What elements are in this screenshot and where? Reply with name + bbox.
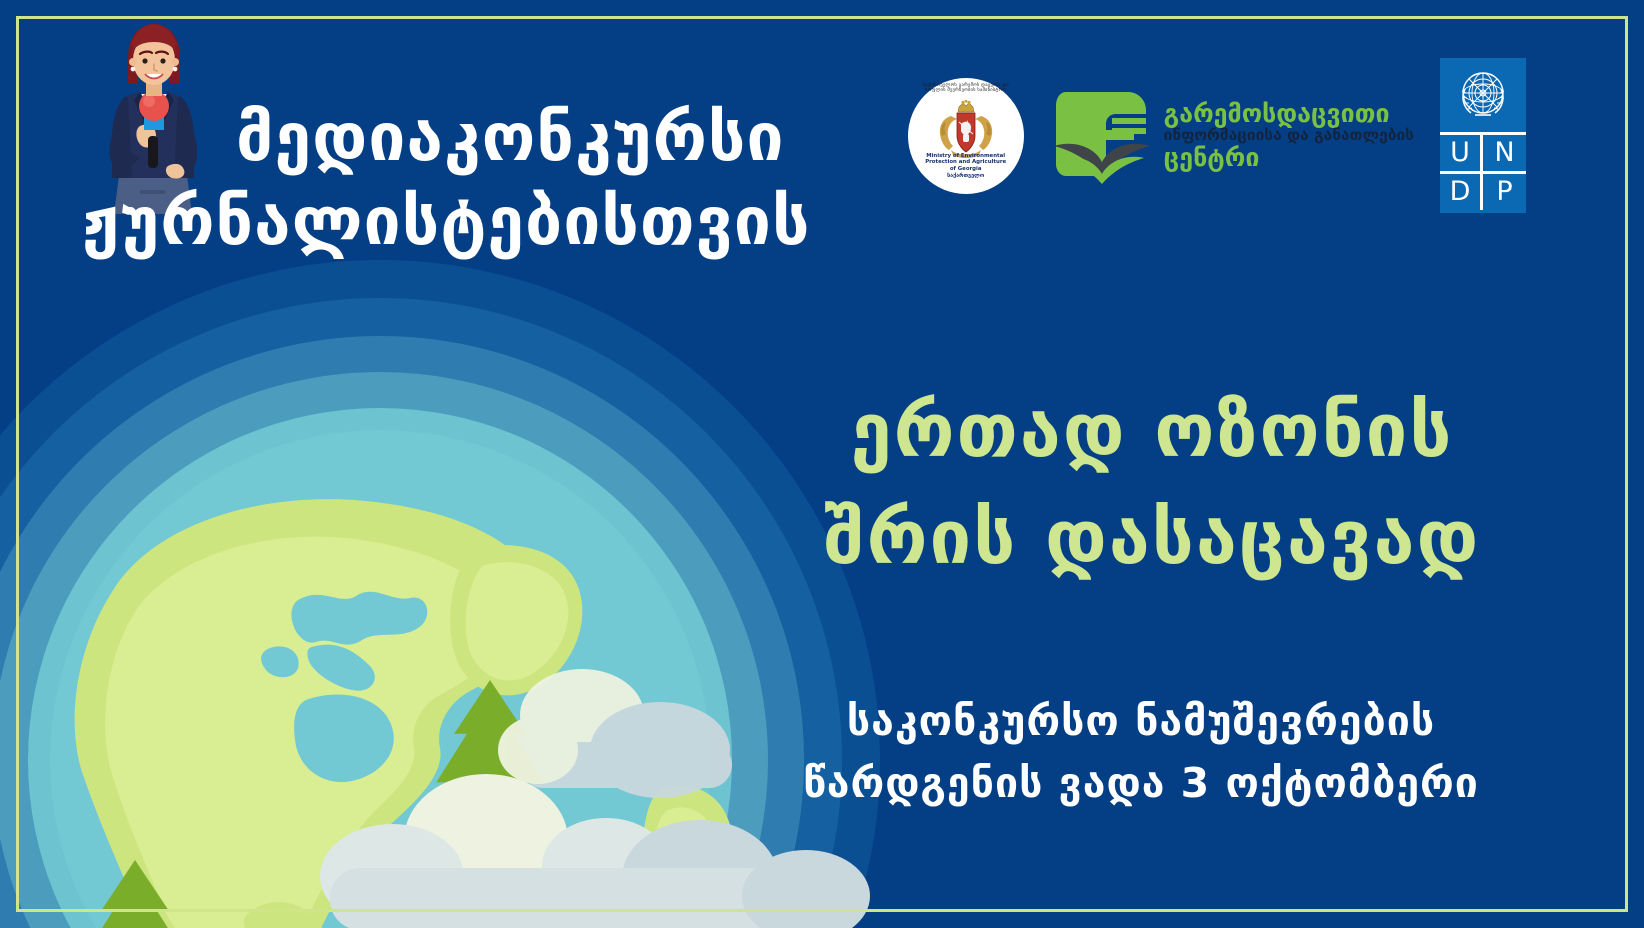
undp-letter-p: P bbox=[1483, 174, 1526, 210]
poster-title: მედიაკონკურსი ჟურნალისტებისთვის bbox=[236, 96, 811, 265]
logo-row: საქართველოს გარემოს დაცვისა და სოფლის მე… bbox=[908, 58, 1526, 213]
undp-letter-n: N bbox=[1483, 135, 1526, 174]
undp-logo: U N D P bbox=[1440, 58, 1526, 213]
title-line-1: მედიაკონკურსი bbox=[236, 96, 811, 180]
undp-letter-grid: U N D P bbox=[1440, 135, 1526, 213]
eiec-line-2: ინფორმაციისა და განათლების bbox=[1164, 128, 1414, 144]
seal-english-text: Ministry of Environmental Protection and… bbox=[908, 153, 1024, 180]
headline-line-1: ერთად ოზონის bbox=[772, 378, 1532, 485]
un-emblem-icon bbox=[1440, 58, 1526, 135]
environmental-info-education-centre-logo: გარემოსდაცვითი ინფორმაციისა და განათლები… bbox=[1050, 84, 1414, 188]
undp-letter-u: U bbox=[1440, 135, 1483, 174]
headline-line-2: შრის დასაცავად bbox=[772, 485, 1532, 592]
eiec-line-3: ცენტრი bbox=[1164, 145, 1414, 171]
seal-en-line-1: Ministry of Environmental bbox=[924, 153, 1008, 160]
globe-illustration bbox=[0, 250, 890, 928]
ministry-of-environment-seal: საქართველოს გარემოს დაცვისა და სოფლის მე… bbox=[908, 78, 1024, 194]
deadline-line-2: წარდგენის ვადა 3 ოქტომბერი bbox=[746, 752, 1536, 814]
eiec-line-1: გარემოსდაცვითი bbox=[1164, 101, 1414, 127]
main-headline: ერთად ოზონის შრის დასაცავად bbox=[772, 378, 1532, 591]
submission-deadline: საკონკურსო ნამუშევრების წარდგენის ვადა 3… bbox=[746, 690, 1536, 815]
seal-en-line-2: Protection and Agriculture bbox=[924, 159, 1008, 166]
eiec-text: გარემოსდაცვითი ინფორმაციისა და განათლები… bbox=[1164, 101, 1414, 171]
undp-letter-d: D bbox=[1440, 174, 1483, 210]
seal-en-line-4: საქართველო bbox=[924, 173, 1008, 180]
seal-georgian-ring-text: საქართველოს გარემოს დაცვისა და სოფლის მე… bbox=[908, 83, 1024, 93]
poster-root: მედიაკონკურსი ჟურნალისტებისთვის საქართვე… bbox=[0, 0, 1644, 928]
title-line-2: ჟურნალისტებისთვის bbox=[82, 180, 811, 264]
seal-en-line-3: of Georgia bbox=[924, 166, 1008, 173]
deadline-line-1: საკონკურსო ნამუშევრების bbox=[746, 690, 1536, 752]
eiec-book-mark-icon bbox=[1050, 84, 1154, 188]
